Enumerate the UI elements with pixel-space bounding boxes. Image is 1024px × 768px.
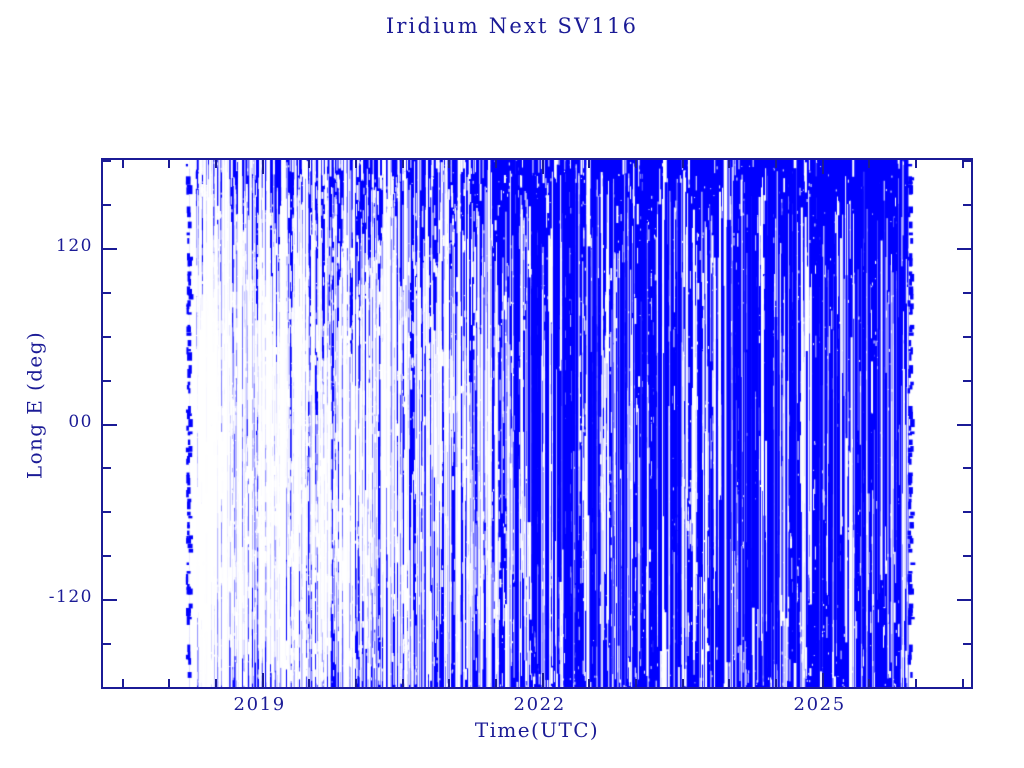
x-major-tick bbox=[822, 160, 824, 174]
x-tick-label: 2022 bbox=[514, 694, 566, 715]
x-minor-tick bbox=[215, 679, 217, 687]
y-minor-tick bbox=[963, 643, 971, 645]
x-major-tick bbox=[542, 160, 544, 174]
x-minor-tick bbox=[775, 160, 777, 168]
y-tick-label: 120 bbox=[56, 236, 93, 256]
y-minor-tick bbox=[963, 380, 971, 382]
x-minor-tick bbox=[682, 160, 684, 168]
chart-title: Iridium Next SV116 bbox=[0, 14, 1024, 38]
x-minor-tick bbox=[962, 160, 964, 168]
y-tick-label: 00 bbox=[68, 412, 93, 432]
plot-frame bbox=[101, 158, 973, 689]
x-minor-tick bbox=[122, 160, 124, 168]
y-minor-tick bbox=[103, 467, 111, 469]
y-minor-tick bbox=[103, 336, 111, 338]
x-minor-tick bbox=[588, 160, 590, 168]
x-minor-tick bbox=[728, 160, 730, 168]
x-minor-tick bbox=[215, 160, 217, 168]
x-major-tick bbox=[822, 673, 824, 687]
y-tick-label: -120 bbox=[49, 587, 93, 607]
x-tick-label: 2019 bbox=[234, 694, 286, 715]
y-minor-tick bbox=[103, 555, 111, 557]
y-minor-tick bbox=[963, 467, 971, 469]
x-major-tick bbox=[262, 673, 264, 687]
y-minor-tick bbox=[103, 292, 111, 294]
x-minor-tick bbox=[915, 160, 917, 168]
y-major-tick bbox=[103, 599, 117, 601]
y-axis-title-wrapper: Long E (deg) bbox=[23, 140, 53, 671]
x-minor-tick bbox=[495, 679, 497, 687]
x-minor-tick bbox=[402, 160, 404, 168]
longitude-vs-time-plot: Iridium Next SV116 12000-120 20192022202… bbox=[0, 0, 1024, 768]
x-minor-tick bbox=[635, 160, 637, 168]
x-minor-tick bbox=[495, 160, 497, 168]
x-major-tick bbox=[262, 160, 264, 174]
x-minor-tick bbox=[635, 679, 637, 687]
x-minor-tick bbox=[448, 160, 450, 168]
x-minor-tick bbox=[588, 679, 590, 687]
y-minor-tick bbox=[963, 204, 971, 206]
y-major-tick bbox=[103, 424, 117, 426]
x-minor-tick bbox=[168, 679, 170, 687]
y-minor-tick bbox=[963, 336, 971, 338]
x-minor-tick bbox=[868, 160, 870, 168]
y-minor-tick bbox=[963, 555, 971, 557]
x-minor-tick bbox=[355, 679, 357, 687]
x-minor-tick bbox=[962, 679, 964, 687]
y-minor-tick bbox=[963, 292, 971, 294]
y-major-tick bbox=[957, 424, 971, 426]
y-major-tick bbox=[957, 599, 971, 601]
y-minor-tick bbox=[103, 380, 111, 382]
y-minor-tick bbox=[103, 643, 111, 645]
y-minor-tick bbox=[103, 511, 111, 513]
x-minor-tick bbox=[355, 160, 357, 168]
x-minor-tick bbox=[728, 679, 730, 687]
y-minor-tick bbox=[963, 511, 971, 513]
x-minor-tick bbox=[168, 160, 170, 168]
x-minor-tick bbox=[915, 679, 917, 687]
x-minor-tick bbox=[402, 679, 404, 687]
x-minor-tick bbox=[448, 679, 450, 687]
y-minor-tick bbox=[103, 687, 111, 689]
x-minor-tick bbox=[868, 679, 870, 687]
x-major-tick bbox=[542, 673, 544, 687]
y-minor-tick bbox=[103, 160, 111, 162]
x-minor-tick bbox=[775, 679, 777, 687]
y-minor-tick bbox=[103, 204, 111, 206]
x-minor-tick bbox=[682, 679, 684, 687]
x-minor-tick bbox=[308, 679, 310, 687]
x-minor-tick bbox=[122, 679, 124, 687]
y-minor-tick bbox=[963, 160, 971, 162]
y-major-tick bbox=[103, 248, 117, 250]
y-axis-title: Long E (deg) bbox=[23, 140, 47, 671]
x-minor-tick bbox=[308, 160, 310, 168]
y-minor-tick bbox=[963, 687, 971, 689]
x-tick-label: 2025 bbox=[794, 694, 846, 715]
x-axis-title: Time(UTC) bbox=[101, 718, 973, 742]
y-major-tick bbox=[957, 248, 971, 250]
longitude-trace-canvas bbox=[103, 160, 971, 687]
